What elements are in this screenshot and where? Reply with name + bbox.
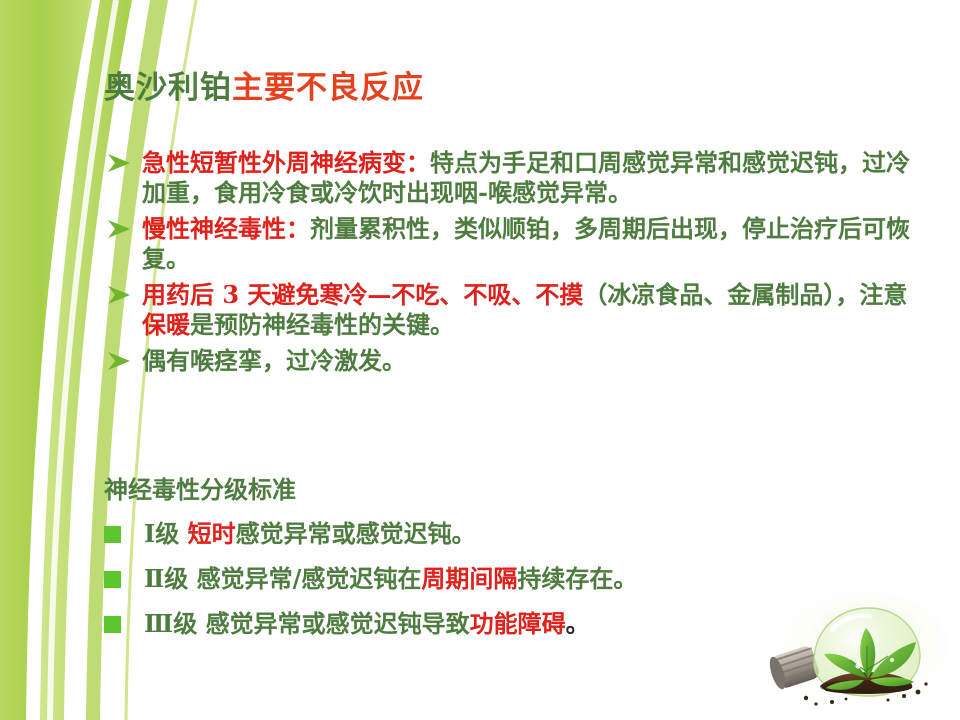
list-item-text: 用药后 3 天避免寒冷—不吃、不吸、不摸（冰凉食品、金属制品），注意保暖是预防神… — [142, 280, 914, 340]
text-segment-green: Ⅱ级 感觉异常/感觉迟钝在 — [144, 564, 421, 593]
square-bullet-icon — [104, 571, 121, 588]
text-segment-green: 持续存在。 — [517, 564, 637, 593]
text-segment-green: Ⅲ级 感觉异常或感觉迟钝导致 — [144, 609, 470, 638]
text-segment-red: 用药后 3 天避免寒冷—不吃、不吸、不摸 — [142, 280, 583, 309]
list-item: 慢性神经毒性：剂量累积性，类似顺铂，多周期后出现，停止治疗后可恢复。 — [104, 214, 914, 274]
page-title-topic: 主要不良反应 — [232, 70, 424, 106]
section-heading: 神经毒性分级标准 — [104, 470, 296, 505]
text-segment-dark: 。 — [566, 609, 590, 638]
arrow-bullet-icon — [106, 284, 132, 306]
list-item: 偶有喉痉挛，过冷激发。 — [104, 346, 914, 376]
text-segment-green: 是预防神经毒性的关键。 — [190, 310, 454, 339]
text-segment-red: 短时 — [188, 519, 236, 548]
text-segment-green: 偶有喉痉挛，过冷激发。 — [142, 346, 406, 375]
square-bullet-icon — [104, 616, 121, 633]
text-segment-red: 功能障碍 — [470, 609, 566, 638]
text-segment-green: 感觉异常或感觉迟钝。 — [236, 519, 476, 548]
list-item: Ⅰ级 短时感觉异常或感觉迟钝。 — [104, 518, 924, 550]
list-item-text: 急性短暂性外周神经病变：特点为手足和口周感觉异常和感觉迟钝，过冷加重，食用冷食或… — [142, 148, 914, 208]
lightbulb-with-plant-icon — [754, 586, 954, 716]
list-item-text: Ⅰ级 短时感觉异常或感觉迟钝。 — [144, 518, 924, 550]
page-title: 奥沙利铂主要不良反应 — [104, 62, 424, 107]
text-segment-green: （冰凉食品、金属制品），注意 — [583, 280, 907, 309]
arrow-bullet-icon — [106, 350, 132, 372]
text-segment-red: 急性短暂性外周神经病变： — [142, 148, 430, 177]
list-item-text: 慢性神经毒性：剂量累积性，类似顺铂，多周期后出现，停止治疗后可恢复。 — [142, 214, 914, 274]
list-item: 用药后 3 天避免寒冷—不吃、不吸、不摸（冰凉食品、金属制品），注意保暖是预防神… — [104, 280, 914, 340]
list-item: 急性短暂性外周神经病变：特点为手足和口周感觉异常和感觉迟钝，过冷加重，食用冷食或… — [104, 148, 914, 208]
adverse-reaction-list: 急性短暂性外周神经病变：特点为手足和口周感觉异常和感觉迟钝，过冷加重，食用冷食或… — [104, 148, 914, 382]
list-item-text: 偶有喉痉挛，过冷激发。 — [142, 346, 914, 376]
text-segment-green: Ⅰ级 — [144, 519, 188, 548]
arrow-bullet-icon — [106, 218, 132, 240]
slide-canvas: 奥沙利铂主要不良反应 急性短暂性外周神经病变：特点为手足和口周感觉异常和感觉迟钝… — [0, 0, 960, 720]
page-title-drug: 奥沙利铂 — [104, 70, 232, 106]
text-segment-red: 周期间隔 — [421, 564, 517, 593]
text-segment-red: 慢性神经毒性： — [142, 214, 310, 243]
square-bullet-icon — [104, 526, 121, 543]
text-segment-red: 保暖 — [142, 310, 190, 339]
arrow-bullet-icon — [106, 152, 132, 174]
